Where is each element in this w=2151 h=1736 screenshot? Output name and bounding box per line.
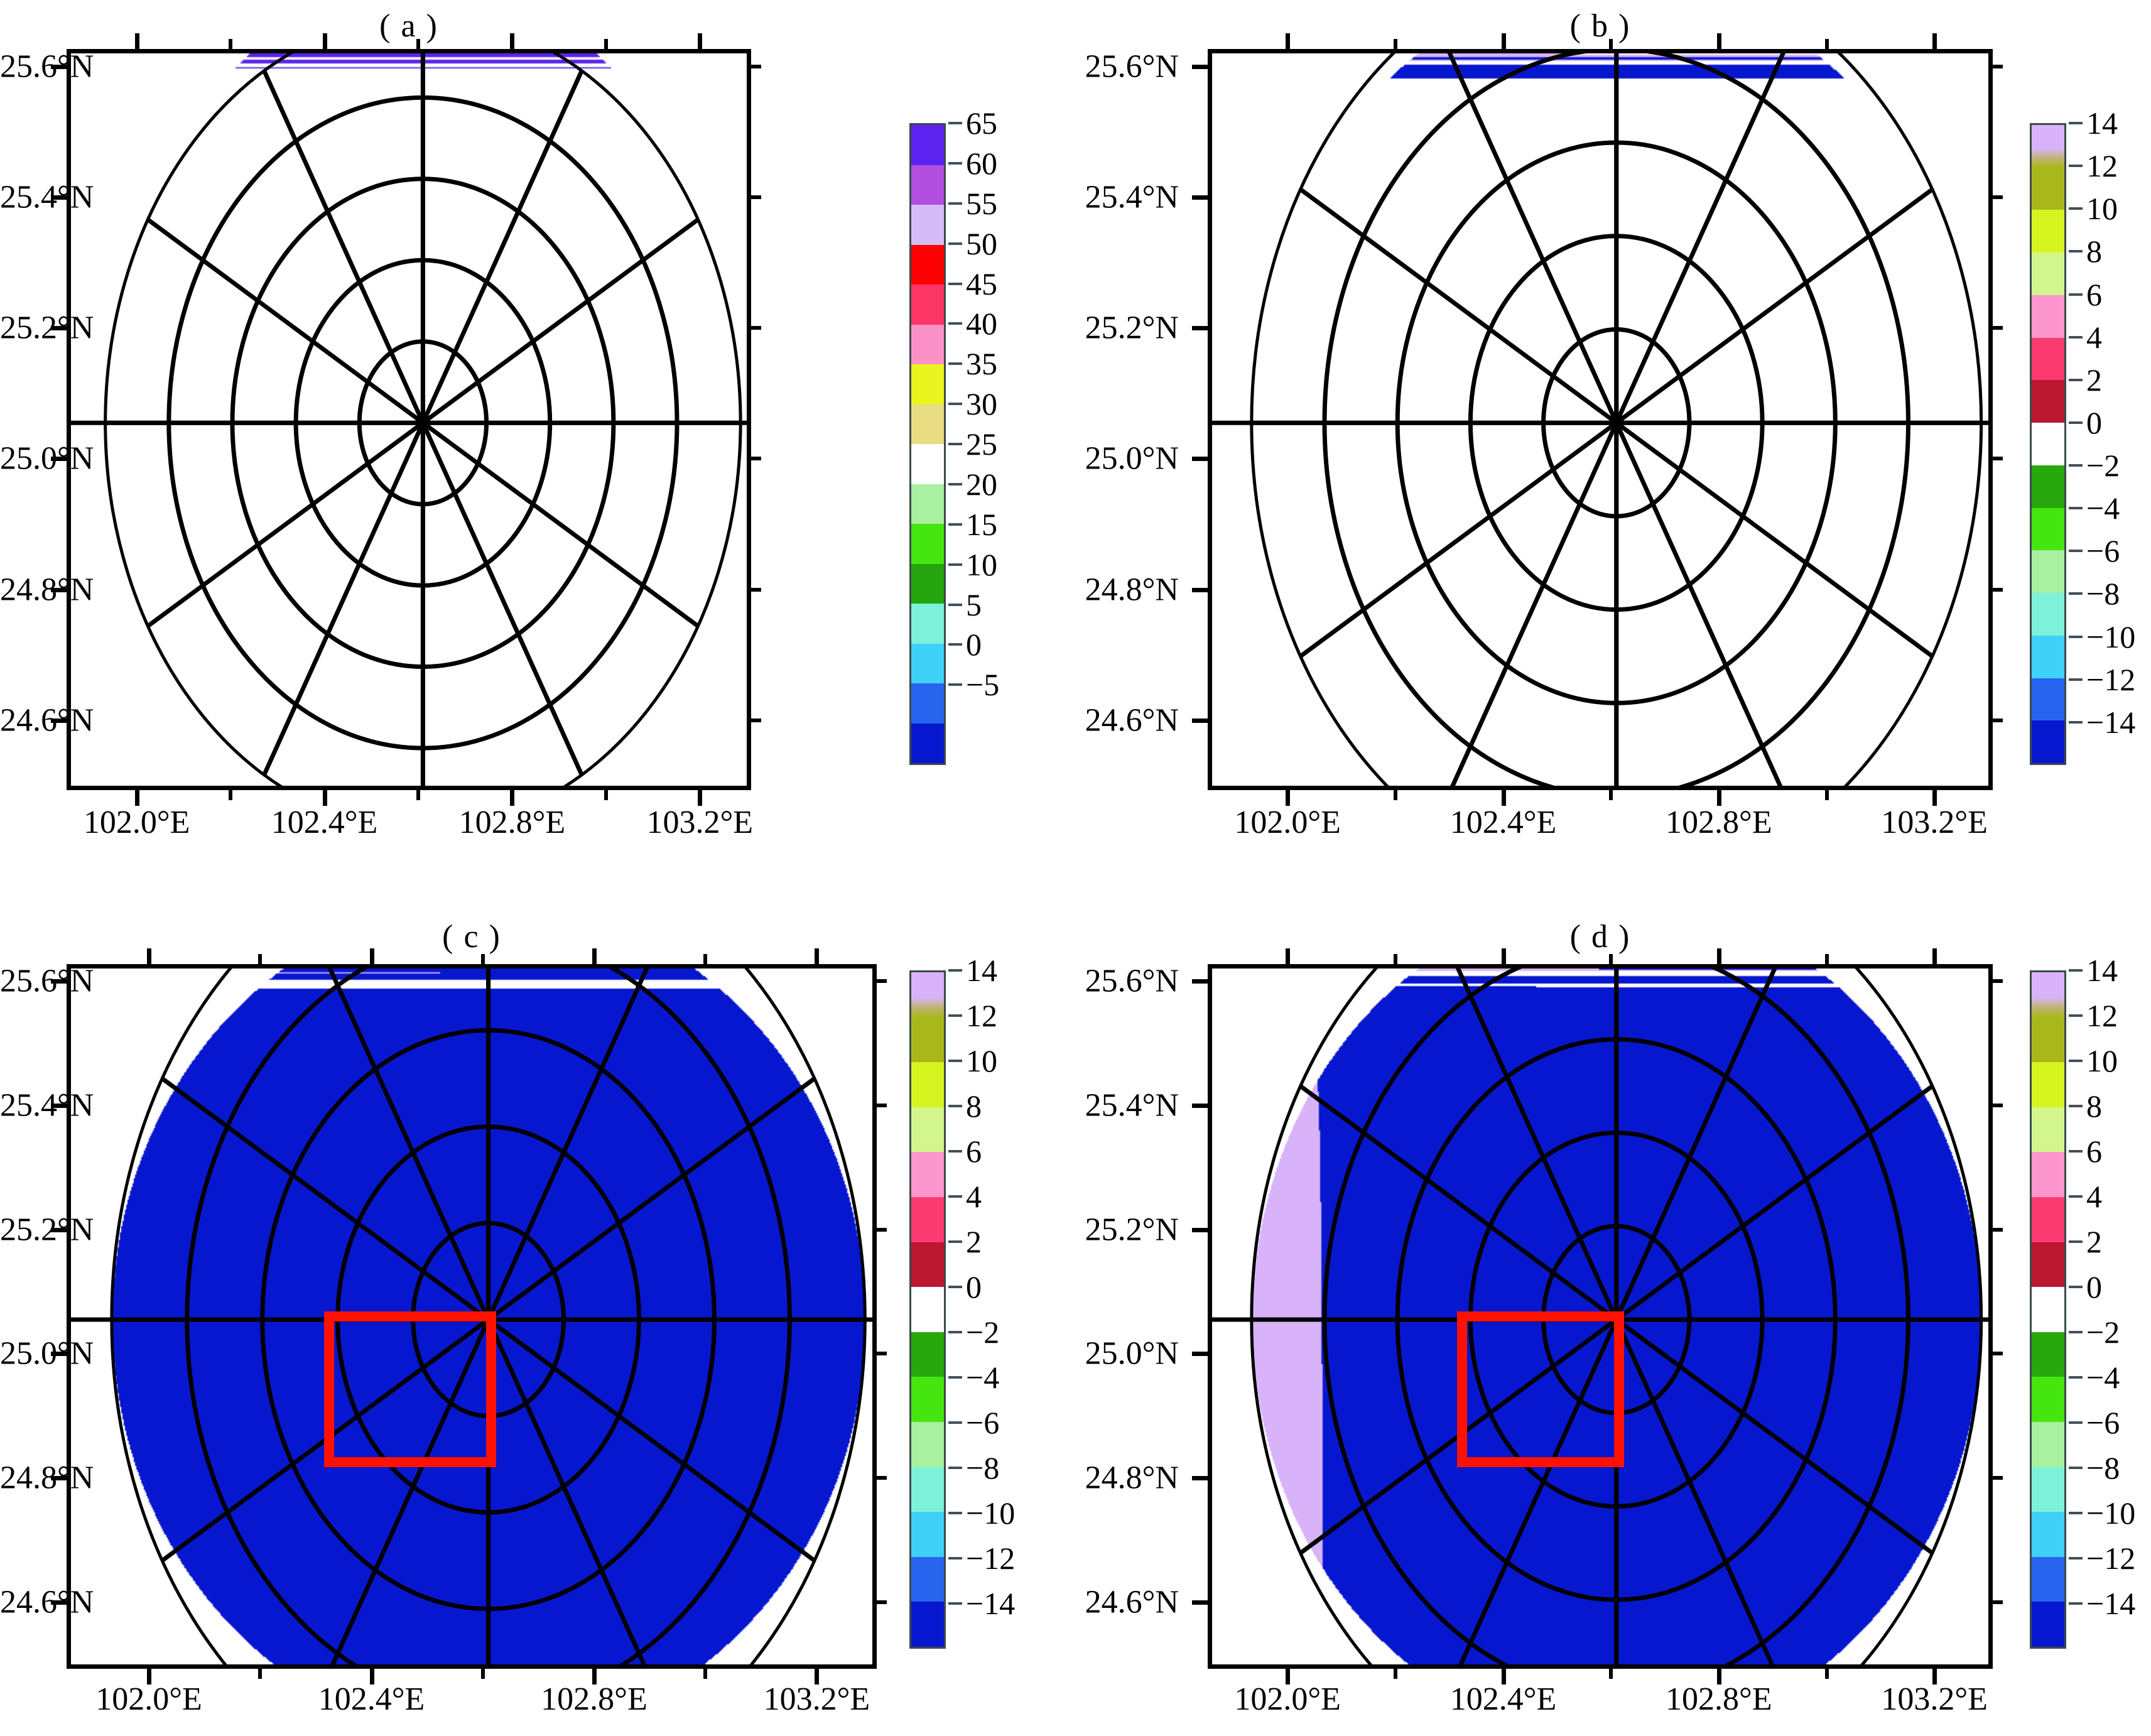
polar-grid-b [1212,53,1988,786]
colorbar-b [2030,123,2066,765]
y-axis-label: 24.6°N [0,1584,1179,1621]
red-highlight-box-d [1457,1311,1624,1467]
colorbar-label: 6 [2086,1133,2102,1169]
x-tick-minor-top [1609,39,1613,50]
colorbar-label: −5 [966,666,999,703]
azimuth-spoke [1617,189,1932,423]
colorbar-label: 15 [966,506,997,543]
azimuth-spoke [264,71,423,423]
colorbar-segment [2032,210,2064,252]
y-tick-major-right [1992,979,2003,983]
colorbar-segment [911,1377,944,1422]
colorbar-tick [948,1557,962,1560]
colorbar-label: 6 [2086,276,2102,313]
panel-title-d: ( d ) [1208,918,1993,955]
colorbar-label: 12 [2086,997,2118,1034]
x-axis-label: 103.2°E [1881,1681,1988,1718]
y-tick-major [1192,979,1208,984]
panel-title-c: ( c ) [67,918,877,955]
plot-area-c [67,964,877,1669]
x-tick-minor [229,789,232,800]
x-tick-minor [416,789,420,800]
colorbar-tick [948,162,962,165]
colorbar-label: −10 [2086,619,2135,655]
y-tick-major-right [1992,719,2003,722]
colorbar-tick [2069,250,2083,252]
colorbar-label: −12 [2086,661,2135,698]
y-tick-major [1192,1352,1208,1356]
y-tick-major [1192,326,1208,330]
colorbar-segment [2032,1242,2064,1288]
y-axis-label: 25.6°N [0,962,1179,999]
azimuth-spoke [423,71,582,423]
azimuth-spoke [1617,1086,1932,1320]
x-axis-label: 102.8°E [541,1681,647,1718]
colorbar-label: −14 [2086,704,2135,741]
colorbar-segment [2032,1377,2064,1422]
colorbar-segment [2032,1557,2064,1602]
colorbar-label: −8 [2086,1450,2120,1486]
colorbar-segment [2032,380,2064,423]
colorbar-label: 65 [966,105,997,141]
colorbar-segment [911,125,944,165]
colorbar-segment [2032,1287,2064,1332]
colorbar-tick [948,1286,962,1288]
colorbar-label: −6 [2086,1404,2120,1441]
colorbar-tick [2069,1014,2083,1017]
colorbar-tick [948,403,962,405]
colorbar-tick [2069,1240,2083,1243]
polar-grid-a [71,53,747,786]
colorbar-tick [2069,464,2083,467]
colorbar-label: −4 [2086,490,2120,526]
colorbar-segment [2032,465,2064,508]
y-axis-label: 25.2°N [0,310,1179,347]
x-axis-label: 102.8°E [459,804,566,841]
colorbar-tick [948,483,962,486]
colorbar-label: 2 [2086,362,2102,398]
y-tick-major [1192,457,1208,461]
y-axis-label: 25.4°N [0,1087,1179,1124]
colorbar-tick [948,523,962,526]
colorbar-tick [2069,1060,2083,1062]
y-tick-major [1192,195,1208,200]
colorbar-tick [948,1060,962,1062]
colorbar-tick [948,1014,962,1017]
colorbar-tick [2069,636,2083,638]
x-tick-minor [1609,1668,1613,1679]
panel-title-b: ( b ) [1208,8,1993,45]
colorbar-label: 12 [2086,148,2118,184]
colorbar-label: −8 [2086,575,2120,612]
azimuth-spoke [489,968,677,1320]
colorbar-segment [911,1287,944,1332]
colorbar-strip [2030,970,2066,1649]
colorbar-segment [911,524,944,564]
x-tick-major-top [1502,948,1506,965]
x-tick-minor-top [1825,954,1829,965]
y-axis-label: 25.0°N [0,1335,1179,1372]
colorbar-tick [2069,1105,2083,1107]
colorbar-label: −2 [2086,447,2120,484]
x-tick-minor [481,1668,485,1679]
colorbar-label: 35 [966,345,997,382]
x-axis-label: 103.2°E [1881,804,1988,841]
colorbar-tick [2069,1150,2083,1153]
colorbar-tick [2069,293,2083,296]
x-tick-minor-top [1825,39,1829,50]
x-tick-major-top [323,33,327,50]
x-tick-major-top [1286,948,1290,965]
colorbar-tick [2069,1421,2083,1424]
colorbar-segment [911,1512,944,1557]
plot-area-a [67,49,751,790]
x-axis-label: 102.0°E [1234,804,1341,841]
colorbar-label: 14 [2086,952,2118,989]
colorbar-segment [2032,1107,2064,1153]
colorbar-tick [948,362,962,365]
colorbar-label: 10 [966,1043,997,1079]
colorbar-tick [2069,122,2083,124]
y-axis-label: 25.2°N [0,1211,1179,1248]
x-tick-minor [258,1668,262,1679]
colorbar-segment [2032,550,2064,593]
x-tick-minor-top [1394,954,1397,965]
y-axis-label: 24.8°N [0,1460,1179,1497]
colorbar-strip [2030,123,2066,765]
plot-area-d [1208,964,1993,1669]
colorbar-segment [2032,338,2064,381]
colorbar-label: 10 [2086,1043,2118,1079]
x-tick-major-top [1717,33,1721,50]
x-axis-label: 102.8°E [1666,804,1772,841]
colorbar-label: 0 [966,626,982,663]
colorbar-tick [2069,1331,2083,1333]
colorbar-label: 0 [966,1269,982,1305]
colorbar-segment [2032,593,2064,636]
y-tick-major-right [1992,588,2003,592]
x-axis-label: 102.0°E [1234,1681,1341,1718]
colorbar-segment [911,1152,944,1197]
x-axis-label: 102.4°E [318,1681,425,1718]
y-tick-major-right [1992,1228,2003,1232]
colorbar-tick [948,242,962,245]
x-axis-label: 102.4°E [1450,1681,1557,1718]
colorbar-tick [2069,1376,2083,1379]
azimuth-spoke [1617,423,1932,656]
y-axis-label: 25.6°N [0,48,1179,85]
plot-area-b [1208,49,1993,790]
y-tick-major-right [1992,1600,2003,1604]
x-axis-label: 103.2°E [646,804,753,841]
colorbar-segment [911,604,944,644]
y-tick-major [1192,1228,1208,1232]
y-tick-major-right [1992,1104,2003,1107]
colorbar-segment [911,484,944,524]
x-axis-label: 102.8°E [1666,1681,1772,1718]
x-tick-major-top [1286,33,1290,50]
x-tick-minor [1825,1668,1829,1679]
y-tick-major [1192,1104,1208,1108]
colorbar-segment [2032,1017,2064,1063]
azimuth-spoke [300,968,489,1320]
colorbar-tick [2069,507,2083,509]
colorbar-tick [2069,969,2083,972]
colorbar-tick [948,643,962,646]
colorbar-tick [2069,550,2083,552]
azimuth-spoke [1434,968,1616,1320]
colorbar-segment [2032,295,2064,338]
colorbar-label: 0 [2086,404,2102,441]
colorbar-segment [2032,1332,2064,1377]
colorbar-tick [948,1376,962,1379]
y-tick-major [1192,719,1208,723]
y-tick-major-right [1992,1352,2003,1355]
colorbar-segment [2032,1062,2064,1107]
x-tick-minor-top [1609,954,1613,965]
colorbar-label: 4 [966,1178,982,1215]
x-axis-label: 103.2°E [764,1681,870,1718]
y-tick-major-right [1992,65,2003,68]
figure-root: ( a )102.0°E102.4°E102.8°E103.2°E25.6°N2… [0,0,2151,1736]
colorbar-segment [2032,678,2064,721]
colorbar-label: 30 [966,386,997,422]
x-tick-minor [604,789,608,800]
colorbar-label: 8 [2086,1088,2102,1124]
colorbar-label: −12 [966,1540,1015,1576]
colorbar-label: −14 [2086,1585,2135,1622]
colorbar-segment [2032,1152,2064,1197]
colorbar-tick [948,283,962,285]
x-tick-major-top [1932,948,1937,965]
colorbar-segment [911,644,944,684]
colorbar-label: −4 [2086,1359,2120,1396]
x-tick-major-top [698,33,702,50]
x-tick-minor-top [1394,39,1397,50]
colorbar-label: −2 [2086,1314,2120,1350]
panel-title-a: ( a ) [67,8,751,45]
colorbar-label: −10 [2086,1495,2135,1531]
azimuth-spoke [1617,1320,1799,1664]
colorbar-label: 50 [966,225,997,262]
y-axis-label: 24.8°N [0,571,1179,608]
colorbar-segment [2032,252,2064,295]
colorbar-tick [2069,165,2083,167]
colorbar-tick [2069,1467,2083,1469]
colorbar-tick [948,1150,962,1153]
colorbar-label: −6 [2086,533,2120,569]
colorbar-segment [911,404,944,445]
x-axis-label: 102.0°E [95,1681,202,1718]
colorbar-tick [948,1195,962,1198]
x-axis-label: 102.4°E [271,804,378,841]
colorbar-label: 10 [2086,190,2118,227]
colorbar-segment [2032,168,2064,210]
colorbar-label: 14 [2086,105,2118,141]
azimuth-spoke [1617,1320,1932,1553]
colorbar-segment [2032,423,2064,465]
colorbar-segment [2032,1512,2064,1557]
colorbar-label: 4 [2086,319,2102,355]
x-axis-label: 102.0°E [84,804,190,841]
colorbar-tick [2069,421,2083,424]
y-tick-major-right [1992,326,2003,330]
colorbar-strip [909,970,946,1649]
colorbar-tick [2069,1557,2083,1560]
x-tick-major-top [510,33,514,50]
colorbar-label: 2 [2086,1223,2102,1260]
colorbar-segment [911,1017,944,1063]
y-tick-major [1192,1600,1208,1605]
colorbar-label: 45 [966,266,997,302]
colorbar-tick [948,122,962,124]
colorbar-label: 0 [2086,1269,2102,1305]
y-tick-major [1192,1476,1208,1480]
x-tick-minor [1394,1668,1397,1679]
colorbar-label: −12 [2086,1540,2135,1576]
x-tick-minor [1825,789,1829,800]
colorbar-tick [2069,207,2083,210]
colorbar-tick [2069,1602,2083,1605]
colorbar-tick [948,683,962,686]
colorbar-segment [2032,636,2064,678]
colorbar-tick [2069,1195,2083,1198]
colorbar-segment [2032,1467,2064,1512]
x-tick-minor [1394,789,1397,800]
colorbar-segment [2032,1197,2064,1242]
colorbar-segment [911,245,944,285]
colorbar-segment [2032,720,2064,763]
x-tick-minor [1609,789,1613,800]
y-tick-major-right [1992,457,2003,460]
colorbar-segment [911,1242,944,1288]
colorbar-tick [2069,592,2083,595]
y-axis-label: 24.6°N [0,702,1179,739]
colorbar-segment [2032,1422,2064,1467]
colorbar-segment [2032,1602,2064,1647]
colorbar-tick [948,563,962,566]
x-tick-major-top [1932,33,1937,50]
colorbar-label: 4 [2086,1178,2102,1215]
y-tick-major-right [1992,1476,2003,1480]
colorbar-segment [2032,508,2064,551]
y-tick-major [1192,588,1208,592]
colorbar-label: 12 [966,997,997,1034]
colorbar-tick [2069,379,2083,381]
colorbar-label: 8 [2086,233,2102,269]
colorbar-tick [2069,721,2083,724]
colorbar-tick [2069,1512,2083,1514]
azimuth-spoke [1301,1086,1617,1320]
x-tick-minor [703,1668,707,1679]
x-tick-major-top [1717,948,1721,965]
colorbar-d [2030,970,2066,1649]
colorbar-tick [2069,336,2083,339]
x-tick-major-top [135,33,139,50]
colorbar-label: −6 [966,1404,999,1441]
azimuth-spoke [1617,968,1799,1320]
x-tick-major-top [1502,33,1506,50]
colorbar-tick [948,1331,962,1333]
colorbar-c [909,970,946,1649]
colorbar-segment [911,364,944,404]
x-axis-label: 102.4°E [1450,804,1557,841]
colorbar-tick [948,1512,962,1514]
colorbar-label: −10 [966,1495,1015,1531]
colorbar-segment [2032,125,2064,168]
colorbar-tick [2069,678,2083,681]
colorbar-tick [948,1421,962,1424]
y-tick-major [1192,65,1208,69]
y-axis-label: 25.0°N [0,440,1179,477]
colorbar-tick [2069,1286,2083,1288]
y-axis-label: 25.4°N [0,179,1179,216]
azimuth-spoke [1301,189,1617,423]
colorbar-label: 60 [966,145,997,182]
y-tick-major-right [1992,195,2003,199]
azimuth-spoke [1301,423,1617,656]
colorbar-label: 6 [966,1133,982,1169]
colorbar-segment [2032,972,2064,1017]
